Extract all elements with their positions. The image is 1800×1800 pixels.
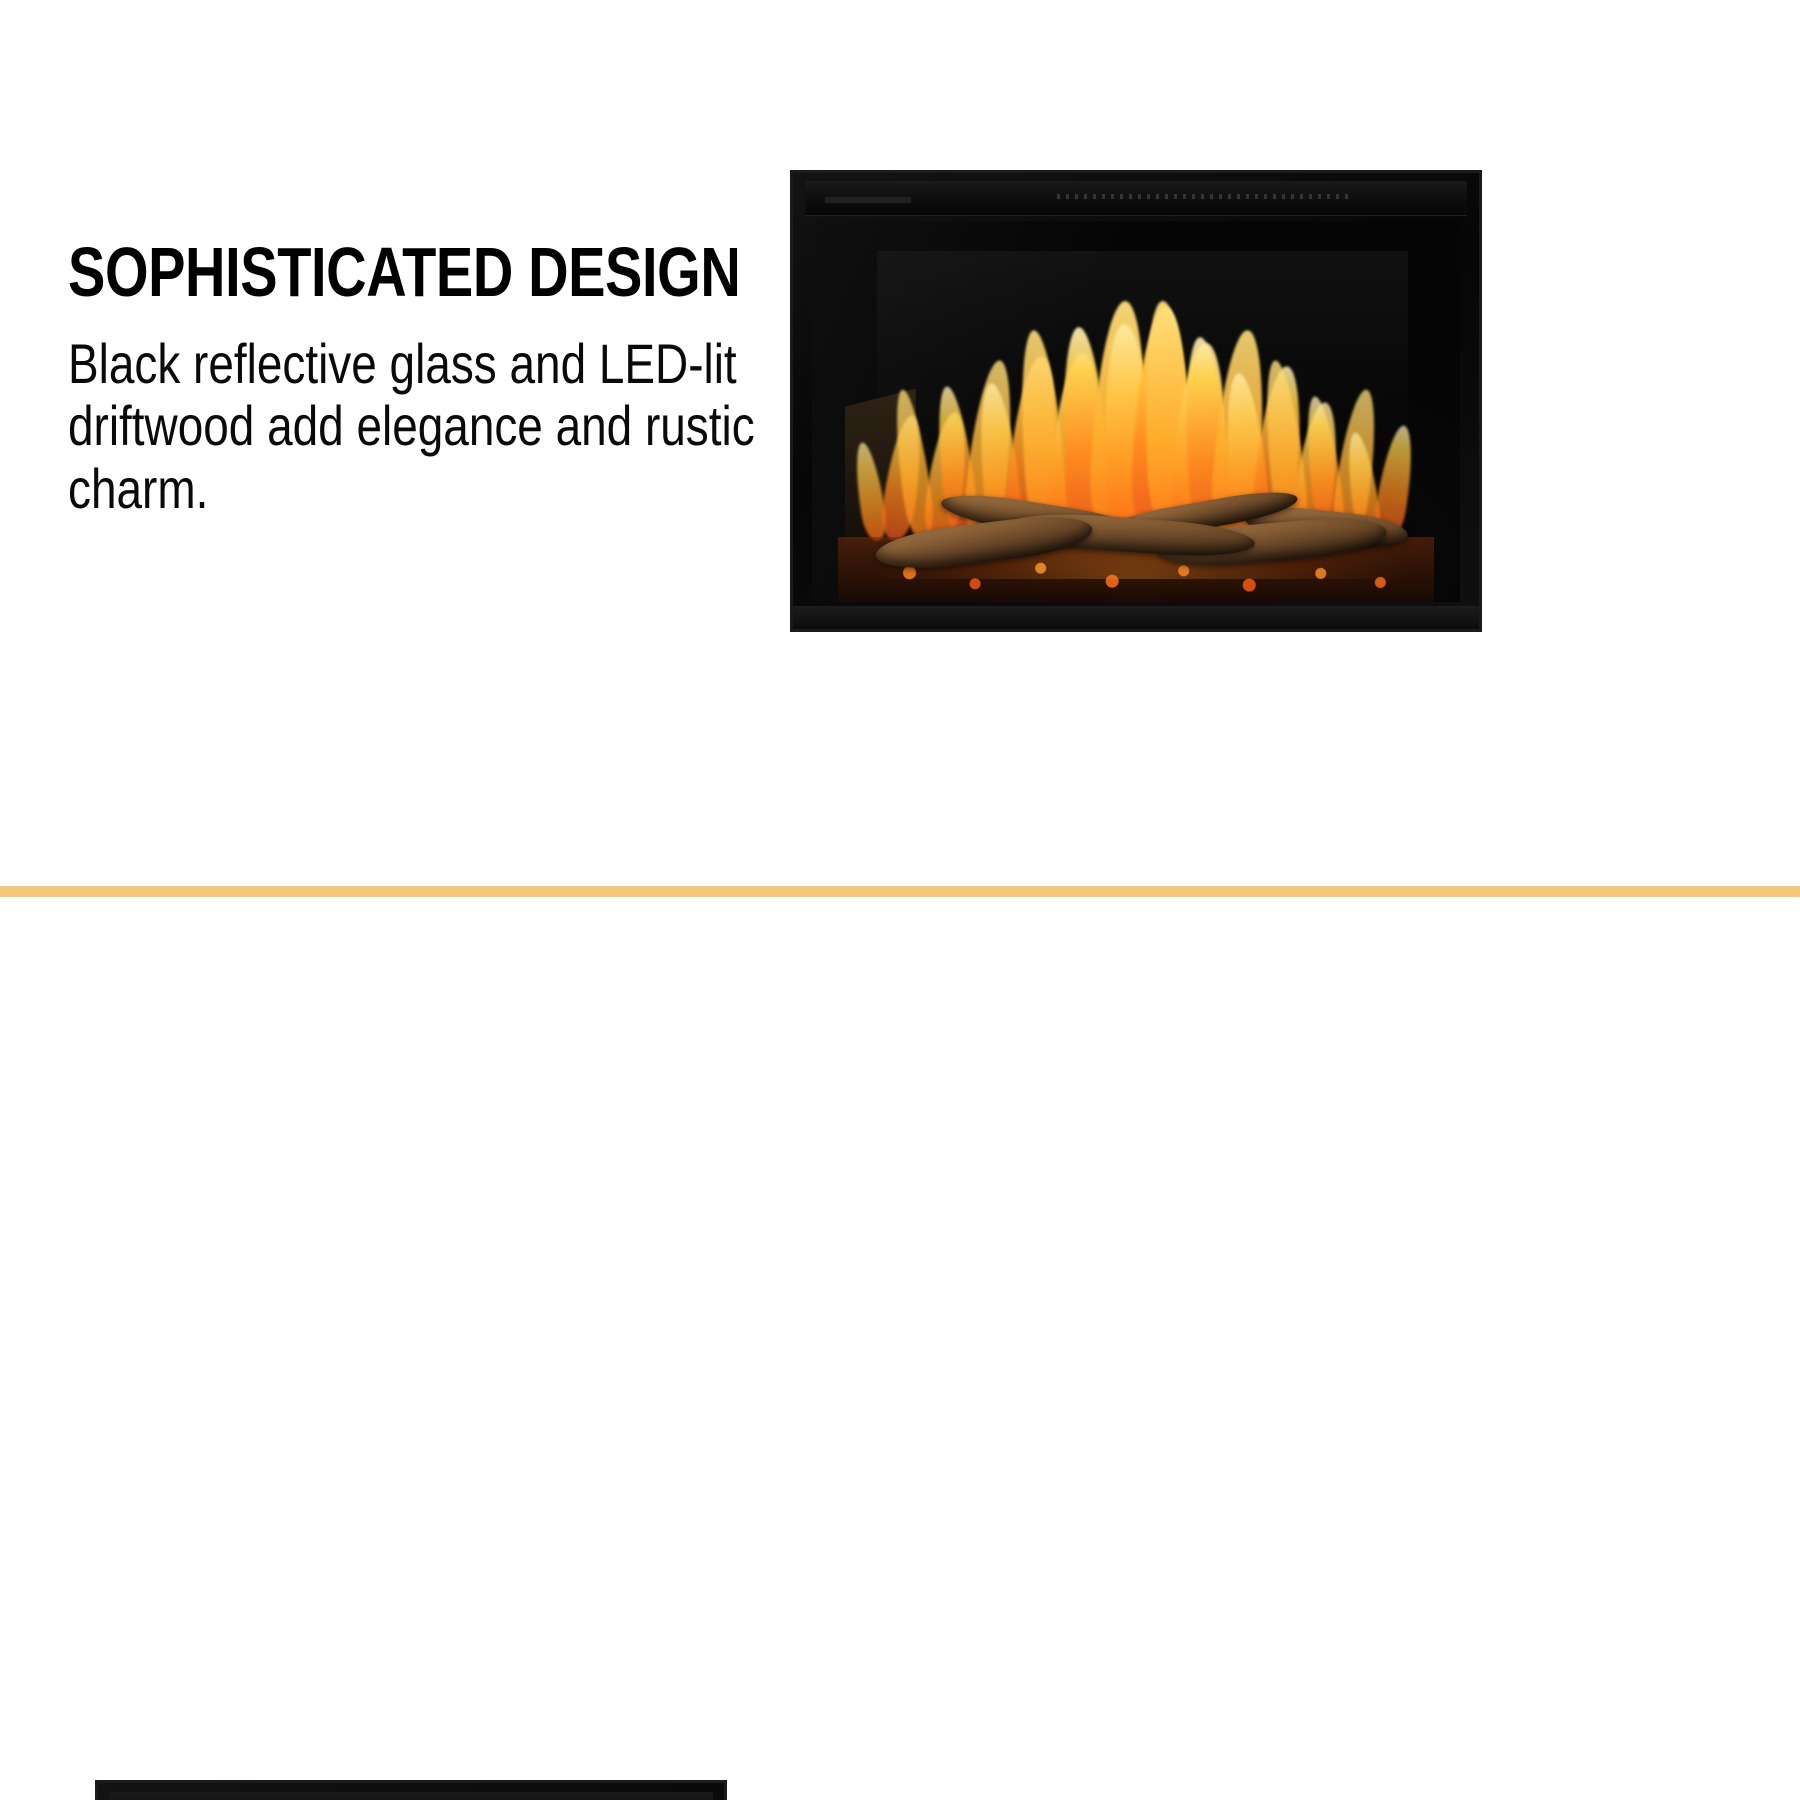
fireplace-top-vent (109, 1792, 713, 1800)
fireplace-vent-tab (825, 197, 911, 203)
fireplace-back-panel (877, 251, 1408, 449)
feature-body-sophisticated-design: Black reflective glass and LED-lit drift… (68, 333, 768, 521)
fireplace-image-sophisticated-design (790, 170, 1482, 632)
feature-heading-sophisticated-design: SOPHISTICATED DESIGN (68, 238, 628, 307)
feature-text-block-top: SOPHISTICATED DESIGN Black reflective gl… (68, 238, 768, 521)
fireplace-firebox (812, 221, 1460, 602)
section-divider (0, 886, 1800, 897)
fireplace-top-vent (805, 181, 1467, 216)
feature-section-5000-btu-heater: 5000 BTU HEATER High-efficiency ceramic … (0, 900, 1800, 1800)
infographic-page: SOPHISTICATED DESIGN Black reflective gl… (0, 0, 1800, 1800)
fireplace-log-set-top (864, 450, 1408, 564)
fireplace-vent-perforations (1057, 194, 1348, 199)
fireplace-image-5000-btu-heater (95, 1780, 727, 1800)
feature-section-sophisticated-design: SOPHISTICATED DESIGN Black reflective gl… (0, 0, 1800, 892)
